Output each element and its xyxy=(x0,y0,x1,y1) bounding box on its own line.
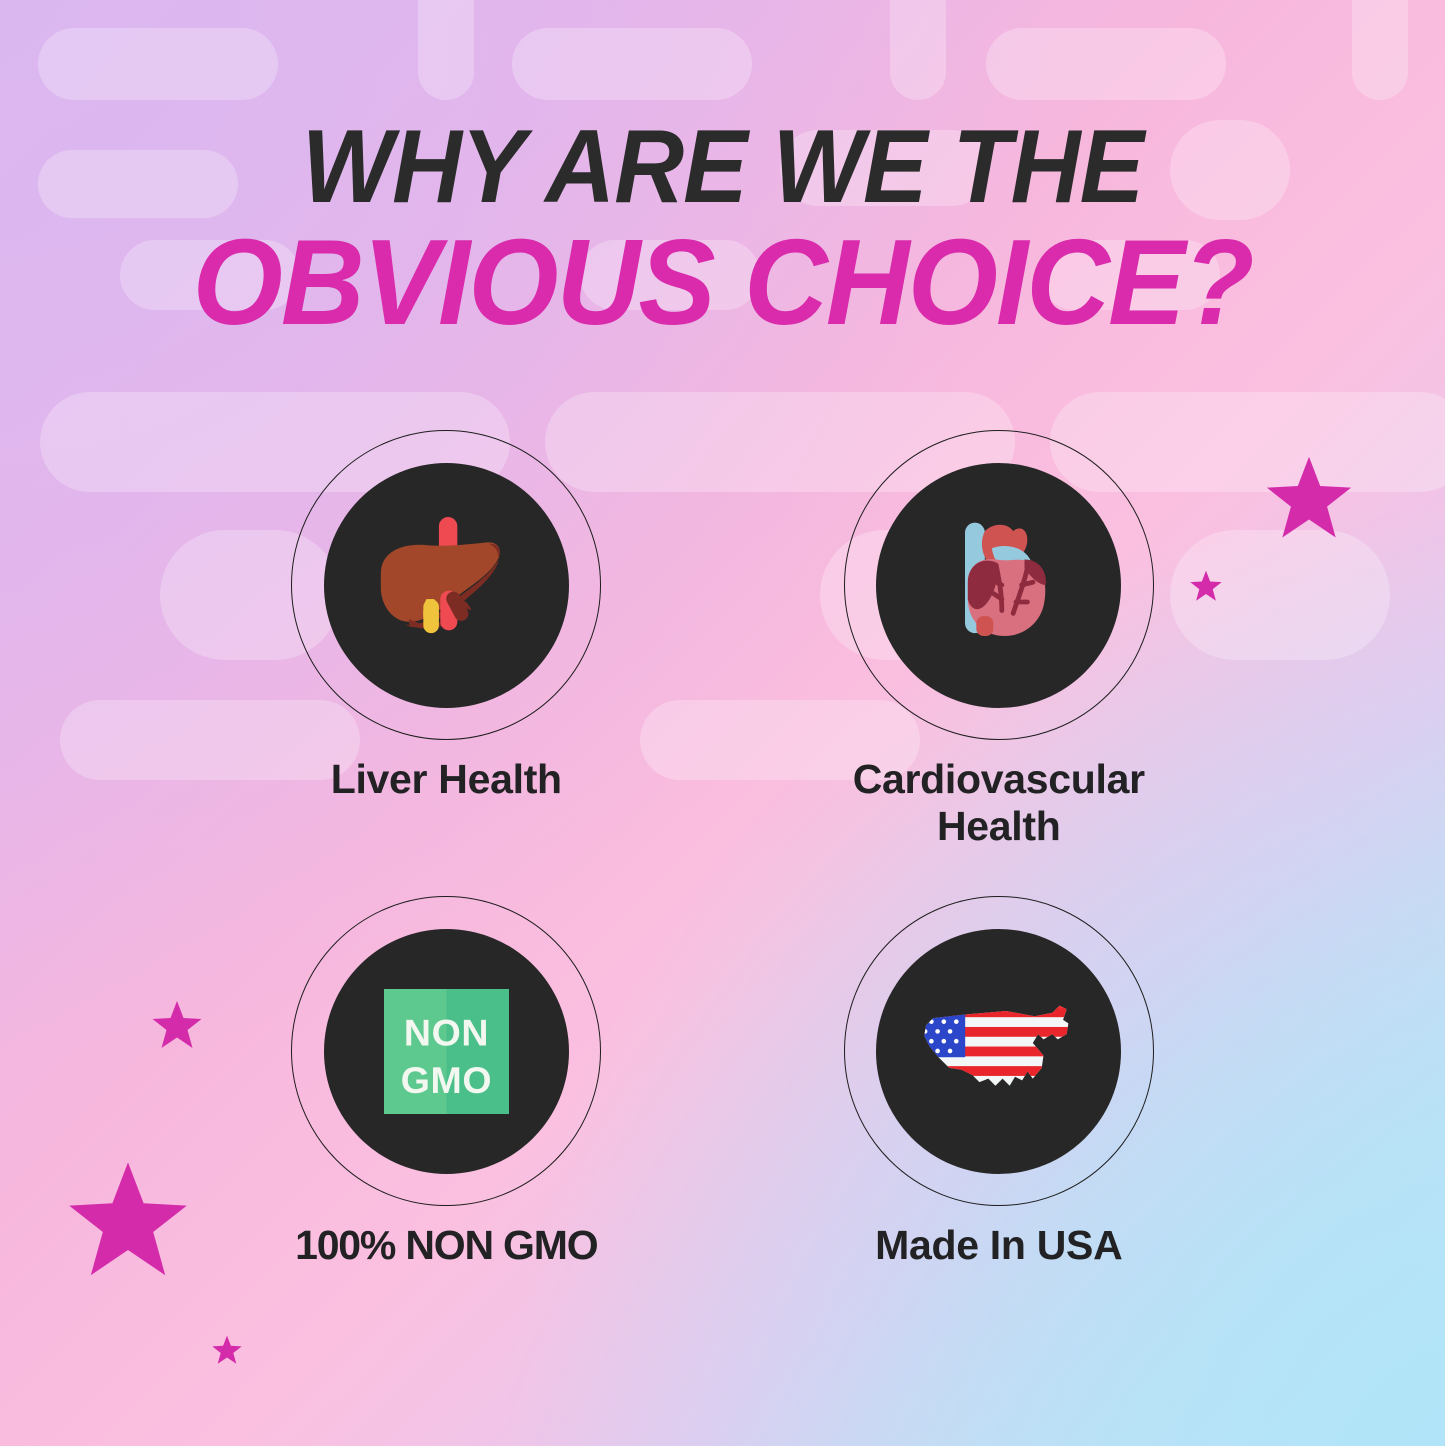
feature-label: Cardiovascular Health xyxy=(799,756,1199,850)
icon-ring: NON GMO xyxy=(291,896,601,1206)
feature-label: Made In USA xyxy=(875,1222,1122,1269)
icon-disc: NON GMO xyxy=(324,929,569,1174)
bg-pill xyxy=(890,0,946,100)
bg-pill xyxy=(418,0,474,100)
icon-ring xyxy=(844,430,1154,740)
bg-pill xyxy=(512,28,752,100)
page-title: WHY ARE WE THE OBVIOUS CHOICE? xyxy=(0,118,1445,341)
liver-icon xyxy=(361,500,531,670)
feature-liver-health[interactable]: Liver Health xyxy=(170,430,723,850)
icon-ring xyxy=(844,896,1154,1206)
infographic-poster: WHY ARE WE THE OBVIOUS CHOICE? xyxy=(0,0,1445,1446)
icon-ring xyxy=(291,430,601,740)
gmo-badge-line-1: NON xyxy=(404,1011,489,1053)
gmo-badge-line-2: GMO xyxy=(401,1059,492,1101)
feature-label: 100% NON GMO xyxy=(295,1222,597,1269)
title-line-1: WHY ARE WE THE xyxy=(51,118,1395,218)
feature-cardiovascular-health[interactable]: Cardiovascular Health xyxy=(723,430,1276,850)
non-gmo-badge-icon: NON GMO xyxy=(384,989,509,1114)
feature-non-gmo[interactable]: NON GMO 100% NON GMO xyxy=(170,896,723,1269)
star-top-right-large xyxy=(1266,455,1352,541)
star-bottom-small xyxy=(212,1335,242,1365)
usa-flag-map-icon xyxy=(910,992,1088,1110)
bg-pill xyxy=(1352,0,1408,100)
bg-pill xyxy=(38,28,278,100)
icon-disc xyxy=(324,463,569,708)
feature-grid: Liver Health xyxy=(170,430,1275,1269)
icon-disc xyxy=(876,929,1121,1174)
bg-pill xyxy=(986,28,1226,100)
feature-label: Liver Health xyxy=(331,756,562,803)
title-line-2: OBVIOUS CHOICE? xyxy=(36,224,1409,341)
heart-icon xyxy=(914,500,1084,670)
icon-disc xyxy=(876,463,1121,708)
feature-made-in-usa[interactable]: Made In USA xyxy=(723,896,1276,1269)
